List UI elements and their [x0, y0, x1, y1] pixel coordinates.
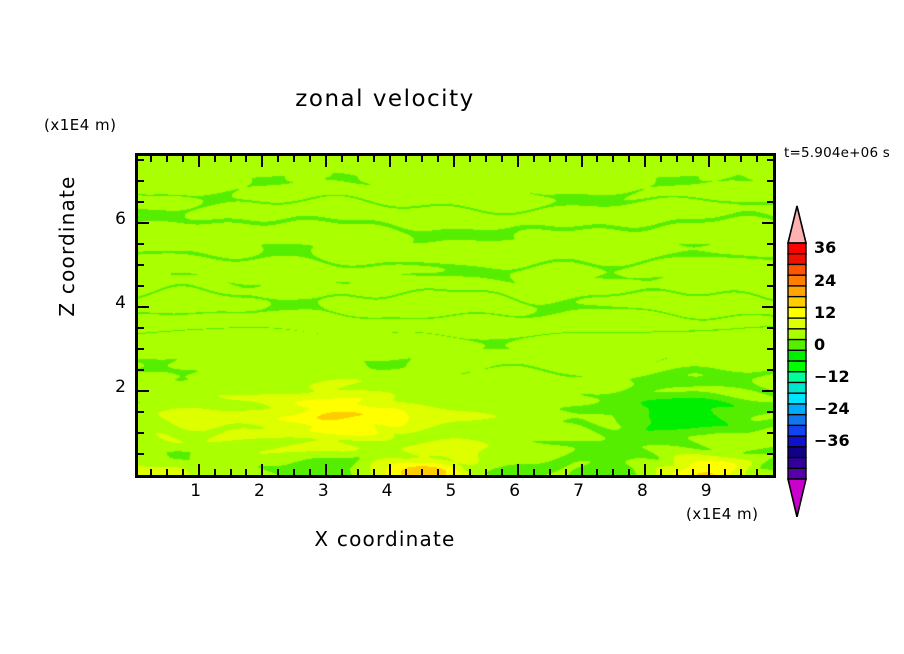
y-minor-tick [138, 201, 144, 203]
x-major-tick-top [325, 156, 327, 167]
x-minor-tick [756, 469, 758, 475]
y-major-tick-right [762, 222, 773, 224]
colorbar [782, 205, 812, 517]
colorbar-band [788, 307, 806, 318]
colorbar-band [788, 458, 806, 469]
x-minor-tick-top [309, 156, 311, 162]
colorbar-band [788, 350, 806, 361]
colorbar-band [788, 340, 806, 351]
x-major-tick [325, 464, 327, 475]
colorbar-tick-label: 12 [814, 303, 836, 322]
x-minor-tick [293, 469, 295, 475]
colorbar-band [788, 297, 806, 308]
y-tick-label: 6 [104, 209, 126, 229]
x-minor-tick-top [596, 156, 598, 162]
y-minor-tick [138, 369, 144, 371]
y-minor-tick [138, 411, 144, 413]
colorbar-band [788, 361, 806, 372]
x-major-tick-top [708, 156, 710, 167]
x-major-tick-top [261, 156, 263, 167]
x-minor-tick [533, 469, 535, 475]
x-major-tick-top [581, 156, 583, 167]
x-minor-tick [245, 469, 247, 475]
y-minor-tick [138, 264, 144, 266]
colorbar-band [788, 372, 806, 383]
contour-plot-area [135, 153, 776, 478]
x-major-tick-top [453, 156, 455, 167]
x-tick-label: 4 [372, 481, 402, 501]
y-minor-tick-right [767, 201, 773, 203]
y-tick-label: 2 [104, 377, 126, 397]
x-minor-tick-top [150, 156, 152, 162]
x-minor-tick [565, 469, 567, 475]
x-minor-tick [596, 469, 598, 475]
colorbar-band [788, 425, 806, 436]
x-minor-tick-top [549, 156, 551, 162]
x-major-tick [644, 464, 646, 475]
x-minor-tick [724, 469, 726, 475]
x-minor-tick-top [692, 156, 694, 162]
x-minor-tick [421, 469, 423, 475]
x-minor-tick [549, 469, 551, 475]
colorbar-tick-label: 24 [814, 271, 836, 290]
x-minor-tick [692, 469, 694, 475]
x-minor-tick-top [533, 156, 535, 162]
x-minor-tick [405, 469, 407, 475]
x-minor-tick [373, 469, 375, 475]
x-tick-label: 8 [627, 481, 657, 501]
y-major-tick [138, 390, 149, 392]
y-minor-tick-right [767, 411, 773, 413]
y-major-tick-right [762, 306, 773, 308]
x-minor-tick [676, 469, 678, 475]
time-annotation: t=5.904e+06 s [784, 145, 890, 161]
x-minor-tick [660, 469, 662, 475]
x-minor-tick [341, 469, 343, 475]
colorbar-tick-label: 0 [814, 335, 825, 354]
x-minor-tick-top [501, 156, 503, 162]
colorbar-band [788, 329, 806, 340]
colorbar-band [788, 468, 806, 479]
colorbar-band [788, 447, 806, 458]
x-minor-tick-top [612, 156, 614, 162]
y-major-tick [138, 222, 149, 224]
x-tick-label: 7 [564, 481, 594, 501]
x-major-tick-top [517, 156, 519, 167]
x-minor-tick [357, 469, 359, 475]
y-major-tick-right [762, 390, 773, 392]
y-minor-tick [138, 180, 144, 182]
x-minor-tick-top [628, 156, 630, 162]
colorbar-tick-label: 36 [814, 238, 836, 257]
colorbar-band [788, 243, 806, 254]
x-tick-label: 5 [436, 481, 466, 501]
x-minor-tick-top [565, 156, 567, 162]
colorbar-band [788, 254, 806, 265]
x-minor-tick [214, 469, 216, 475]
y-minor-tick-right [767, 243, 773, 245]
y-minor-tick-right [767, 264, 773, 266]
x-major-tick-top [198, 156, 200, 167]
x-minor-tick [740, 469, 742, 475]
colorbar-band [788, 286, 806, 297]
colorbar-band [788, 436, 806, 447]
colorbar-band [788, 264, 806, 275]
y-minor-tick [138, 327, 144, 329]
x-minor-tick-top [437, 156, 439, 162]
y-minor-tick-right [767, 369, 773, 371]
x-minor-tick-top [676, 156, 678, 162]
y-minor-tick-right [767, 180, 773, 182]
y-minor-tick-right [767, 159, 773, 161]
x-minor-tick [230, 469, 232, 475]
x-minor-tick-top [182, 156, 184, 162]
y-axis-units-label: (x1E4 m) [44, 116, 117, 134]
x-tick-label: 9 [691, 481, 721, 501]
colorbar-band [788, 415, 806, 426]
x-major-tick-top [389, 156, 391, 167]
y-minor-tick-right [767, 327, 773, 329]
x-minor-tick [150, 469, 152, 475]
x-axis-units-label: (x1E4 m) [686, 505, 759, 523]
x-minor-tick [309, 469, 311, 475]
colorbar-max-arrow [788, 206, 806, 243]
x-minor-tick-top [277, 156, 279, 162]
y-minor-tick [138, 285, 144, 287]
x-minor-tick-top [469, 156, 471, 162]
contour-field-canvas [138, 156, 773, 475]
x-minor-tick [628, 469, 630, 475]
colorbar-band [788, 275, 806, 286]
x-minor-tick-top [373, 156, 375, 162]
x-minor-tick-top [740, 156, 742, 162]
x-minor-tick [485, 469, 487, 475]
x-minor-tick [166, 469, 168, 475]
page-title: zonal velocity [0, 86, 770, 112]
x-minor-tick [182, 469, 184, 475]
y-axis-title: Z coordinate [55, 146, 79, 346]
x-minor-tick [469, 469, 471, 475]
x-minor-tick-top [660, 156, 662, 162]
x-minor-tick [277, 469, 279, 475]
colorbar-band [788, 318, 806, 329]
x-minor-tick-top [166, 156, 168, 162]
x-minor-tick-top [230, 156, 232, 162]
x-major-tick [517, 464, 519, 475]
x-minor-tick [501, 469, 503, 475]
y-minor-tick-right [767, 285, 773, 287]
x-minor-tick-top [421, 156, 423, 162]
x-minor-tick-top [357, 156, 359, 162]
colorbar-tick-label: −36 [814, 431, 850, 450]
x-minor-tick-top [214, 156, 216, 162]
x-major-tick [453, 464, 455, 475]
y-minor-tick [138, 453, 144, 455]
colorbar-band [788, 404, 806, 415]
colorbar-min-arrow [788, 479, 806, 517]
x-tick-label: 6 [500, 481, 530, 501]
x-axis-title: X coordinate [0, 527, 770, 551]
x-minor-tick-top [724, 156, 726, 162]
x-major-tick [581, 464, 583, 475]
colorbar-svg [782, 205, 812, 517]
y-minor-tick [138, 432, 144, 434]
x-minor-tick-top [293, 156, 295, 162]
x-tick-label: 1 [181, 481, 211, 501]
y-minor-tick [138, 159, 144, 161]
x-major-tick [198, 464, 200, 475]
x-tick-label: 2 [244, 481, 274, 501]
colorbar-band [788, 382, 806, 393]
y-tick-label: 4 [104, 293, 126, 313]
y-minor-tick-right [767, 348, 773, 350]
x-major-tick [389, 464, 391, 475]
x-minor-tick-top [245, 156, 247, 162]
x-major-tick-top [644, 156, 646, 167]
colorbar-tick-label: −12 [814, 367, 850, 386]
x-minor-tick [612, 469, 614, 475]
y-minor-tick [138, 348, 144, 350]
colorbar-band [788, 393, 806, 404]
x-tick-label: 3 [308, 481, 338, 501]
y-minor-tick-right [767, 453, 773, 455]
x-minor-tick-top [341, 156, 343, 162]
x-major-tick [708, 464, 710, 475]
x-minor-tick-top [485, 156, 487, 162]
x-minor-tick-top [405, 156, 407, 162]
y-minor-tick [138, 243, 144, 245]
x-minor-tick-top [756, 156, 758, 162]
x-minor-tick [437, 469, 439, 475]
colorbar-tick-label: −24 [814, 399, 850, 418]
x-major-tick [261, 464, 263, 475]
y-minor-tick-right [767, 432, 773, 434]
y-major-tick [138, 306, 149, 308]
